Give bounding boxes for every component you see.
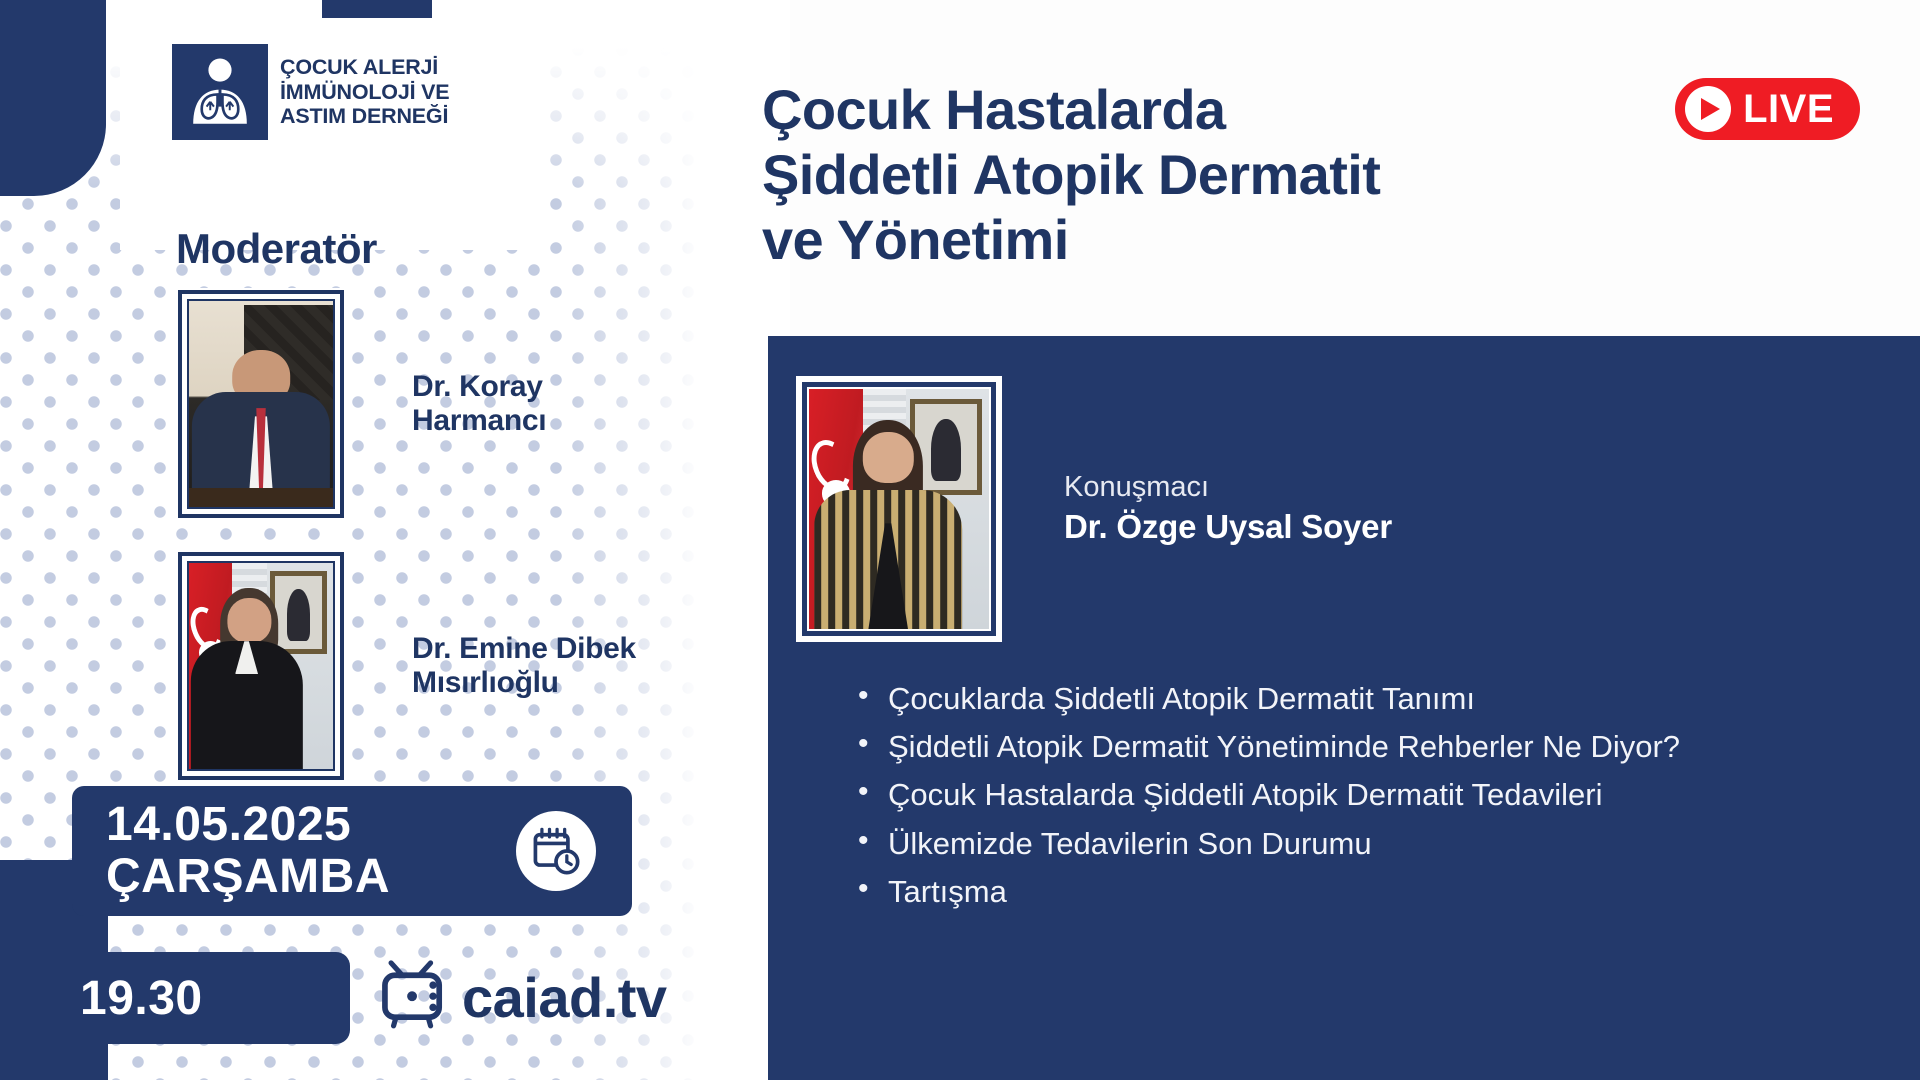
- topic-item: Ülkemizde Tedavilerin Son Durumu: [854, 823, 1884, 864]
- portrait-emine-dibek-misirlioglu: [189, 563, 333, 769]
- moderator-2-photo-frame: [178, 552, 344, 780]
- topic-item: Tartışma: [854, 871, 1884, 912]
- calendar-clock-icon: [516, 811, 596, 891]
- moderator-1-name: Dr. Koray Harmancı: [412, 370, 546, 438]
- dot-pattern-right-fade: [560, 0, 790, 1080]
- webinar-poster: ÇOCUK ALERJİ İMMÜNOLOJİ VE ASTIM DERNEĞİ…: [0, 0, 1920, 1080]
- topic-item: Çocuklarda Şiddetli Atopik Dermatit Tanı…: [854, 678, 1884, 719]
- event-date: 14.05.2025 ÇARŞAMBA: [106, 799, 390, 903]
- topic-item: Şiddetli Atopik Dermatit Yönetiminde Reh…: [854, 726, 1884, 767]
- portrait-ozge-uysal-soyer: [809, 389, 989, 629]
- channel-block[interactable]: caiad.tv: [380, 960, 667, 1035]
- moderator-2: Dr. Emine Dibek Mısırlıoğlu: [178, 552, 636, 780]
- television-icon: [380, 960, 454, 1035]
- content-panel: Konuşmacı Dr. Özge Uysal Soyer Çocuklard…: [768, 336, 1920, 1080]
- moderator-1: Dr. Koray Harmancı: [178, 290, 546, 518]
- moderator-1-photo-frame: [178, 290, 344, 518]
- play-icon: [1685, 86, 1731, 132]
- speaker-photo-frame: [798, 378, 1000, 640]
- event-date-badge: 14.05.2025 ÇARŞAMBA: [72, 786, 632, 916]
- live-badge[interactable]: LIVE: [1675, 78, 1860, 140]
- torso-lungs-icon: [172, 44, 268, 140]
- speaker-block: Konuşmacı Dr. Özge Uysal Soyer: [798, 378, 1392, 640]
- organization-logo: ÇOCUK ALERJİ İMMÜNOLOJİ VE ASTIM DERNEĞİ: [172, 44, 449, 140]
- speaker-name: Dr. Özge Uysal Soyer: [1064, 506, 1392, 549]
- channel-name: caiad.tv: [462, 965, 667, 1030]
- top-navy-tab: [322, 0, 432, 18]
- speaker-role: Konuşmacı: [1064, 469, 1392, 507]
- page-title: Çocuk Hastalarda Şiddetli Atopik Dermati…: [762, 78, 1642, 273]
- live-label: LIVE: [1743, 87, 1834, 132]
- moderator-heading: Moderatör: [176, 225, 377, 273]
- organization-name: ÇOCUK ALERJİ İMMÜNOLOJİ VE ASTIM DERNEĞİ: [280, 55, 449, 129]
- top-left-navy-shape: [0, 0, 106, 196]
- event-time: 19.30: [80, 971, 203, 1026]
- event-time-badge: 19.30: [0, 952, 350, 1044]
- topic-list: Çocuklarda Şiddetli Atopik Dermatit Tanı…: [854, 678, 1884, 919]
- moderator-2-name: Dr. Emine Dibek Mısırlıoğlu: [412, 632, 636, 700]
- topic-item: Çocuk Hastalarda Şiddetli Atopik Dermati…: [854, 774, 1884, 815]
- portrait-koray-harmanci: [189, 301, 333, 507]
